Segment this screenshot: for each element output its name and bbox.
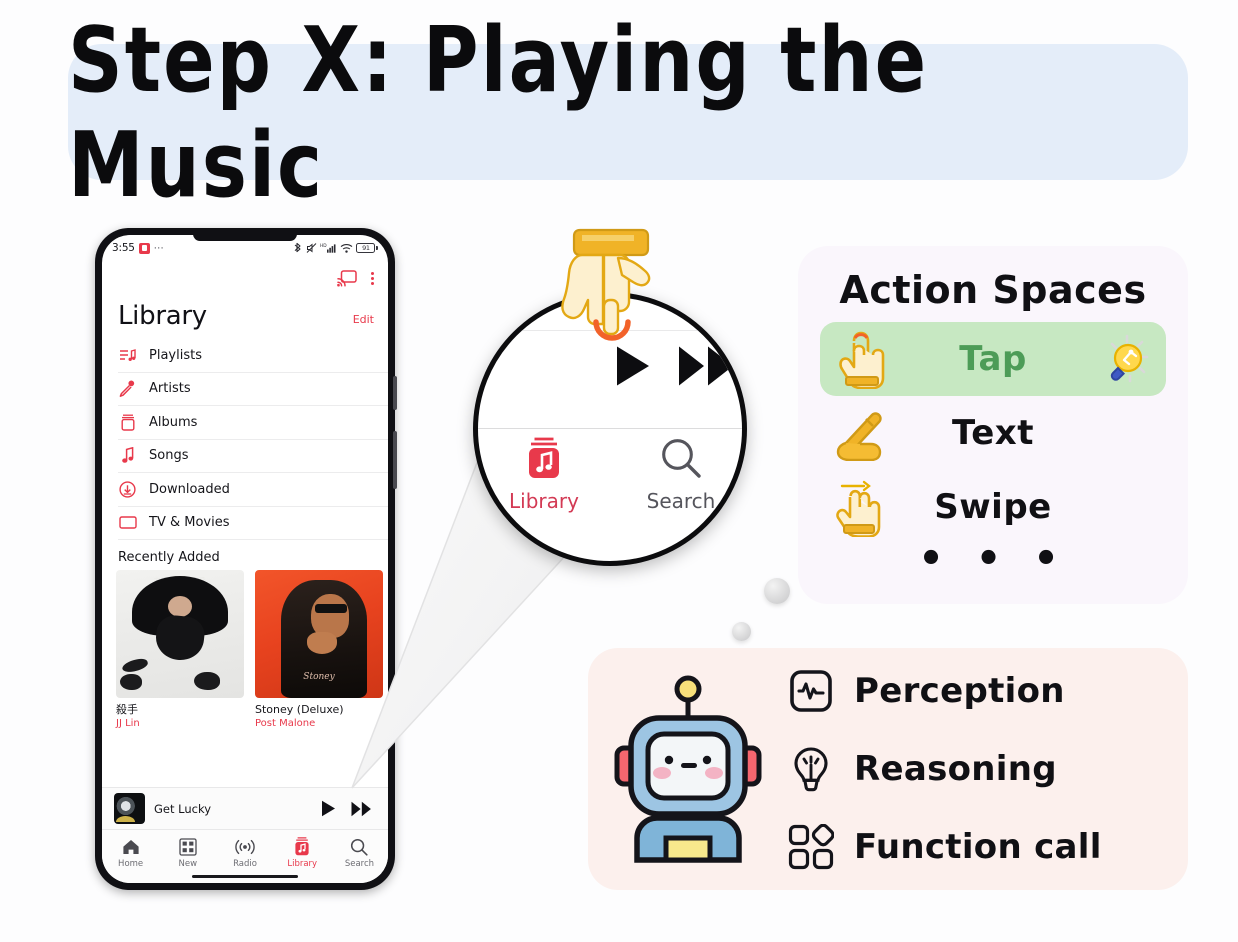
magnified-fast-forward-icon[interactable] (678, 345, 735, 391)
download-circle-icon (118, 480, 137, 499)
phone-volume-button (393, 376, 397, 410)
edit-button[interactable]: Edit (353, 313, 374, 331)
capability-label: Reasoning (854, 749, 1057, 789)
action-spaces-panel: Action Spaces Tap (798, 246, 1188, 604)
playlist-icon (118, 346, 137, 365)
lightbulb-idea-icon (1094, 332, 1156, 386)
library-item-artists[interactable]: Artists (118, 373, 388, 407)
phone-power-button (393, 431, 397, 489)
album-stack-icon (118, 413, 137, 432)
status-bar-right: HD 91 (293, 242, 378, 254)
tab-radio[interactable]: Radio (216, 837, 273, 869)
tab-label: Radio (233, 859, 257, 869)
page-title: Step X: Playing the Music (68, 7, 1188, 217)
tap-hand-icon (830, 329, 892, 389)
lightbulb-icon (788, 746, 834, 792)
tab-home[interactable]: Home (102, 837, 159, 869)
writing-hand-icon (830, 405, 892, 461)
status-bar: 3:55 ⋯ HD (102, 235, 388, 257)
search-icon (660, 437, 702, 483)
app-top-bar (102, 257, 388, 299)
tab-search[interactable]: Search (331, 837, 388, 869)
album-title: Stoney (Deluxe) (255, 703, 383, 717)
magnifier-circle: Library Search (473, 292, 747, 566)
now-playing-controls (321, 800, 376, 817)
hd-signal-icon: HD (320, 242, 336, 254)
album-title: 殺手 (116, 703, 244, 717)
magnifier-rule-mid (478, 428, 742, 429)
library-item-label: Playlists (149, 348, 202, 363)
capability-label: Function call (854, 827, 1102, 867)
magnified-tab-label: Library (509, 489, 579, 513)
home-icon (122, 837, 140, 856)
home-indicator (192, 875, 298, 879)
action-item-text[interactable]: Text (820, 396, 1166, 470)
now-playing-track: Get Lucky (154, 802, 312, 816)
airplay-cast-icon[interactable] (337, 270, 357, 287)
library-music-icon (524, 437, 564, 483)
recently-added-grid: 吉哥 / 不 接受 殺手 JJ Lin Stoney Stoney (Delux… (102, 570, 388, 730)
album-artist: Post Malone (255, 718, 383, 731)
tab-label: New (179, 859, 198, 869)
waveform-screen-icon (788, 669, 834, 713)
phone-mockup: 3:55 ⋯ HD (95, 228, 395, 890)
music-app-icon (139, 243, 150, 254)
music-note-icon (118, 446, 137, 465)
tab-new[interactable]: New (159, 837, 216, 869)
bluetooth-icon (293, 242, 302, 254)
library-item-label: Albums (149, 415, 197, 430)
album-artwork: 吉哥 / 不 接受 (116, 570, 244, 698)
fast-forward-icon[interactable] (351, 801, 372, 817)
capability-label: Perception (854, 671, 1065, 711)
kebab-menu-icon[interactable] (371, 272, 374, 285)
library-header: Library Edit (102, 299, 388, 339)
action-item-label: Swipe (892, 487, 1094, 527)
tab-library[interactable]: Library (274, 837, 331, 869)
grid-new-icon (179, 837, 197, 856)
action-list-ellipsis: • • • (820, 536, 1166, 582)
now-playing-artwork (114, 793, 145, 824)
status-overflow-dots: ⋯ (154, 243, 164, 254)
microphone-icon (118, 379, 137, 398)
magnified-play-icon[interactable] (615, 345, 651, 391)
wifi-icon (340, 243, 353, 254)
recently-added-heading: Recently Added (102, 540, 388, 570)
swipe-hand-icon (830, 477, 892, 537)
library-item-songs[interactable]: Songs (118, 440, 388, 474)
library-item-albums[interactable]: Albums (118, 406, 388, 440)
library-item-tv-movies[interactable]: TV & Movies (118, 507, 388, 541)
action-item-label: Tap (892, 339, 1094, 379)
play-icon[interactable] (321, 800, 336, 817)
action-item-label: Text (892, 413, 1094, 453)
library-music-icon (293, 837, 311, 856)
library-item-downloaded[interactable]: Downloaded (118, 473, 388, 507)
capability-reasoning: Reasoning (788, 730, 1170, 808)
svg-text:HD: HD (320, 243, 327, 249)
library-item-label: Downloaded (149, 482, 230, 497)
tab-label: Library (287, 859, 317, 869)
capability-list: Perception Reasoning (788, 652, 1188, 886)
mute-icon (306, 242, 317, 254)
album-card[interactable]: Stoney Stoney (Deluxe) Post Malone (255, 570, 383, 730)
capability-perception: Perception (788, 652, 1170, 730)
agent-capabilities-panel: Perception Reasoning (588, 648, 1188, 890)
magnified-tab-library[interactable]: Library (503, 437, 585, 513)
status-time: 3:55 (112, 242, 135, 254)
poster-root: Step X: Playing the Music 3:55 ⋯ (0, 0, 1238, 942)
magnifier-rule-top (478, 330, 742, 331)
action-spaces-title: Action Spaces (798, 246, 1188, 312)
library-item-label: Artists (149, 381, 191, 396)
tab-label: Search (345, 859, 374, 869)
title-banner: Step X: Playing the Music (68, 44, 1188, 180)
library-title: Library (118, 301, 207, 331)
action-item-tap[interactable]: Tap (820, 322, 1166, 396)
robot-avatar (588, 674, 788, 864)
battery-level: 91 (362, 244, 370, 252)
shapes-grid-icon (788, 824, 834, 870)
battery-icon: 91 (356, 243, 378, 253)
thought-bubble-large (764, 578, 790, 604)
thought-bubble-small (732, 622, 751, 641)
tab-label: Home (118, 859, 143, 869)
now-playing-bar[interactable]: Get Lucky (102, 787, 388, 829)
radio-waves-icon (234, 837, 256, 856)
capability-function-call: Function call (788, 808, 1170, 886)
library-item-label: Songs (149, 448, 188, 463)
status-bar-left: 3:55 ⋯ (112, 242, 164, 254)
search-icon (350, 837, 368, 856)
action-list: Tap (798, 312, 1188, 582)
album-artist: JJ Lin (116, 718, 244, 731)
magnified-tab-search[interactable]: Search (640, 437, 722, 513)
tv-icon (118, 513, 137, 532)
library-list: Playlists Artists (102, 339, 388, 540)
action-item-swipe[interactable]: Swipe (820, 470, 1166, 544)
library-item-playlists[interactable]: Playlists (118, 339, 388, 373)
bottom-tab-bar: Home New (102, 829, 388, 883)
phone-screen: 3:55 ⋯ HD (102, 235, 388, 883)
magnified-tab-label: Search (647, 489, 716, 513)
album-card[interactable]: 吉哥 / 不 接受 殺手 JJ Lin (116, 570, 244, 730)
album-art-caption: Stoney (255, 672, 383, 682)
library-item-label: TV & Movies (149, 515, 229, 530)
album-artwork: Stoney (255, 570, 383, 698)
